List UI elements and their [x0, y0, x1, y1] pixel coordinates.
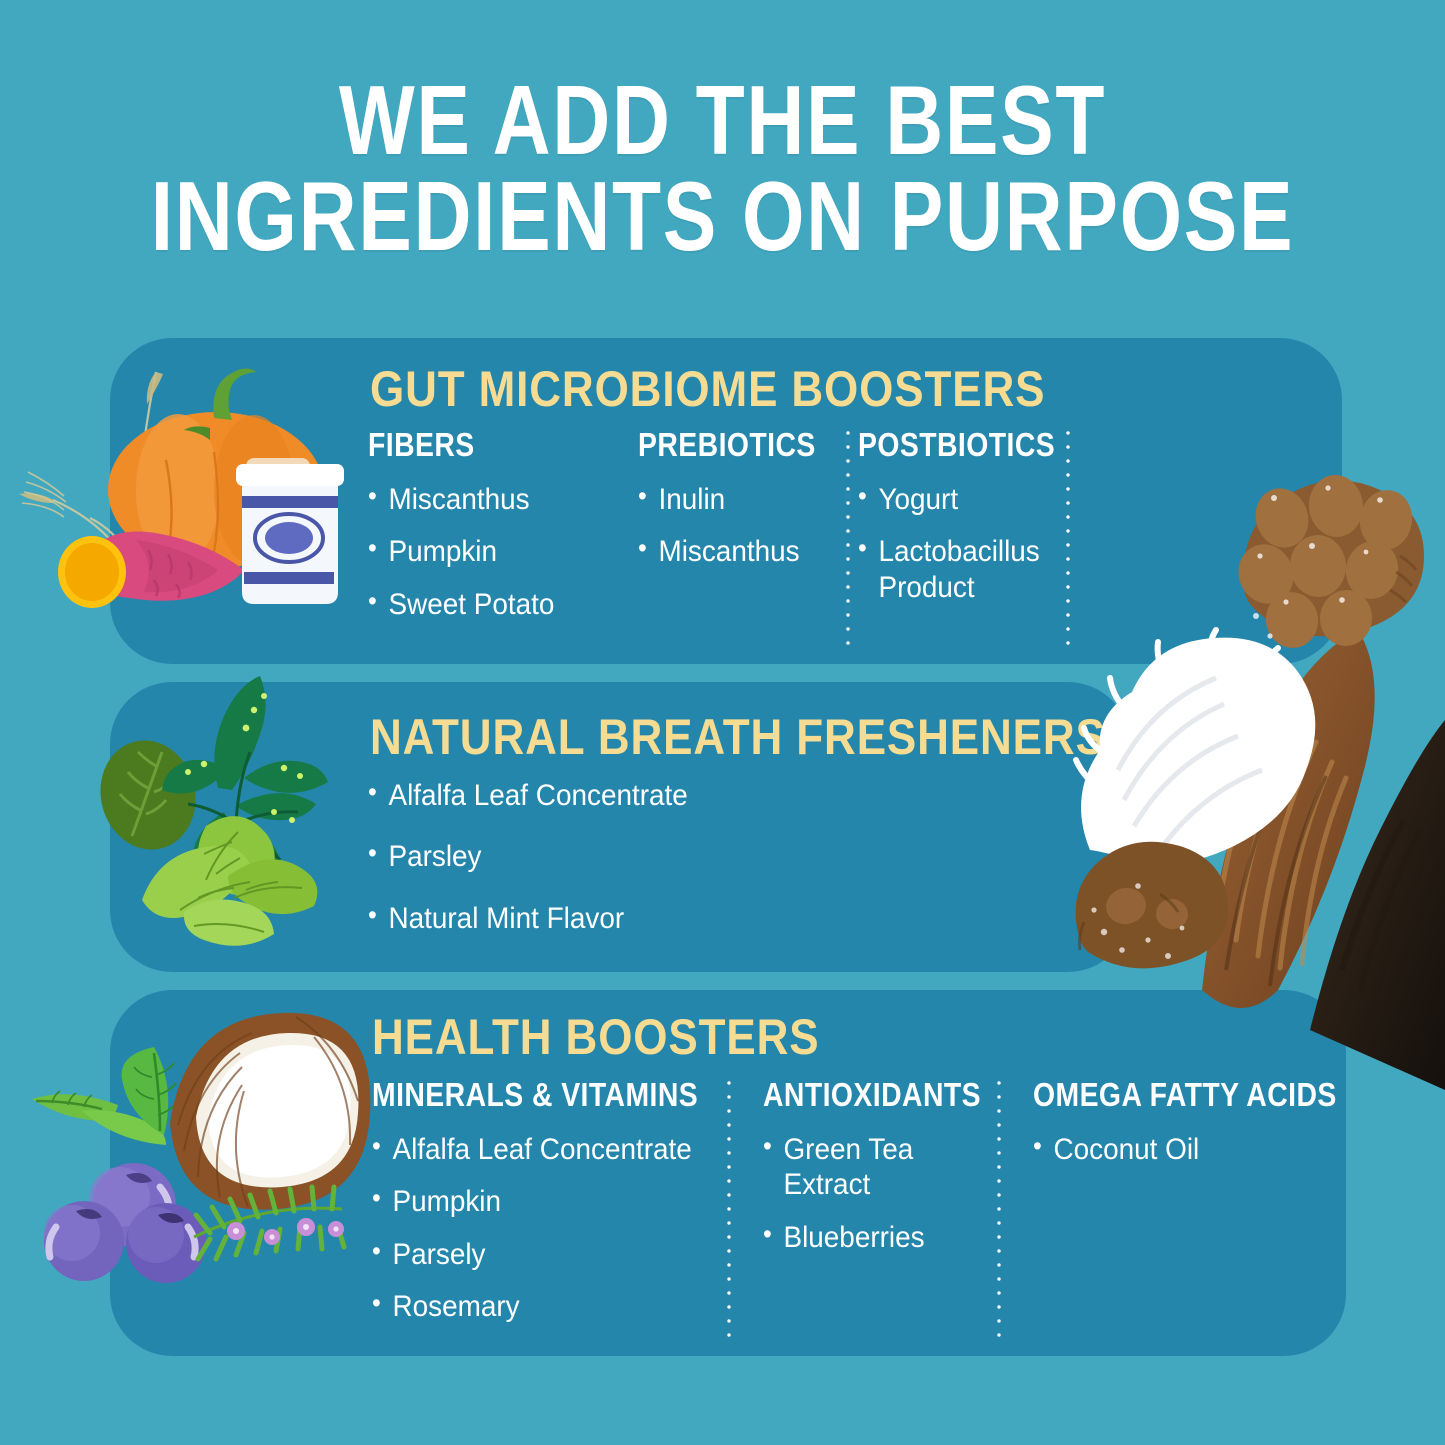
- page-title-line-1: WE ADD THE BEST: [130, 72, 1315, 168]
- section-card-gut-microbiome-boosters: GUT MICROBIOME BOOSTERS FIBERS Miscanthu…: [110, 338, 1342, 664]
- list-item: Parsely: [372, 1237, 702, 1272]
- column-minerals-vitamins: MINERALS & VITAMINS Alfalfa Leaf Concent…: [372, 1076, 727, 1338]
- column-heading-prebiotics: PREBIOTICS: [638, 426, 791, 464]
- column-heading-postbiotics: POSTBIOTICS: [858, 426, 1063, 464]
- column-heading-minerals-vitamins: MINERALS & VITAMINS: [372, 1076, 677, 1114]
- column-omega-fatty-acids: OMEGA FATTY ACIDS Coconut Oil: [997, 1076, 1327, 1338]
- list-minerals-vitamins: Alfalfa Leaf Concentrate Pumpkin Parsely…: [372, 1132, 727, 1325]
- columns-breath: Alfalfa Leaf Concentrate Parsley Natural…: [368, 778, 712, 962]
- list-item: Parsley: [368, 839, 688, 874]
- section-card-natural-breath-fresheners: NATURAL BREATH FRESHENERS Alfalfa Leaf C…: [110, 682, 1130, 972]
- list-item: Yogurt: [858, 482, 1079, 517]
- list-item: Blueberries: [763, 1220, 981, 1255]
- list-item: Pumpkin: [372, 1184, 702, 1219]
- list-item: Inulin: [638, 482, 804, 517]
- list-item: Sweet Potato: [368, 587, 580, 622]
- section-heading-gut-microbiome-boosters: GUT MICROBIOME BOOSTERS: [370, 360, 1045, 418]
- list-postbiotics: Yogurt Lactobacillus Product: [858, 482, 1096, 605]
- column-prebiotics: PREBIOTICS Inulin Miscanthus: [596, 426, 816, 648]
- column-antioxidants: ANTIOXIDANTS Green Tea Extract Blueberri…: [727, 1076, 997, 1338]
- section-heading-health-boosters: HEALTH BOOSTERS: [372, 1008, 820, 1066]
- list-breath-fresheners: Alfalfa Leaf Concentrate Parsley Natural…: [368, 778, 712, 936]
- columns-gut: FIBERS Miscanthus Pumpkin Sweet Potato P…: [368, 426, 1312, 648]
- page-title-line-2: INGREDIENTS ON PURPOSE: [130, 168, 1315, 264]
- column-heading-omega-fatty-acids: OMEGA FATTY ACIDS: [1033, 1076, 1286, 1114]
- list-item: Lactobacillus Product: [858, 534, 1079, 605]
- list-item: Alfalfa Leaf Concentrate: [368, 778, 688, 813]
- column-heading-antioxidants: ANTIOXIDANTS: [763, 1076, 964, 1114]
- list-item: Coconut Oil: [1033, 1132, 1306, 1167]
- list-omega-fatty-acids: Coconut Oil: [1033, 1132, 1327, 1167]
- section-heading-natural-breath-fresheners: NATURAL BREATH FRESHENERS: [370, 708, 1106, 766]
- column-postbiotics: POSTBIOTICS Yogurt Lactobacillus Product: [816, 426, 1096, 648]
- list-fibers: Miscanthus Pumpkin Sweet Potato: [368, 482, 596, 622]
- list-item: Miscanthus: [638, 534, 804, 569]
- column-heading-fibers: FIBERS: [368, 426, 564, 464]
- list-item: Miscanthus: [368, 482, 580, 517]
- list-item: Rosemary: [372, 1289, 702, 1324]
- list-item: Pumpkin: [368, 534, 580, 569]
- page-title: WE ADD THE BEST INGREDIENTS ON PURPOSE: [130, 72, 1315, 264]
- list-prebiotics: Inulin Miscanthus: [638, 482, 816, 570]
- section-card-health-boosters: HEALTH BOOSTERS MINERALS & VITAMINS Alfa…: [110, 990, 1346, 1356]
- column-fibers: FIBERS Miscanthus Pumpkin Sweet Potato: [368, 426, 596, 648]
- columns-health: MINERALS & VITAMINS Alfalfa Leaf Concent…: [372, 1076, 1322, 1338]
- list-item: Green Tea Extract: [763, 1132, 981, 1203]
- list-item: Alfalfa Leaf Concentrate: [372, 1132, 702, 1167]
- list-item: Natural Mint Flavor: [368, 901, 688, 936]
- list-antioxidants: Green Tea Extract Blueberries: [763, 1132, 997, 1255]
